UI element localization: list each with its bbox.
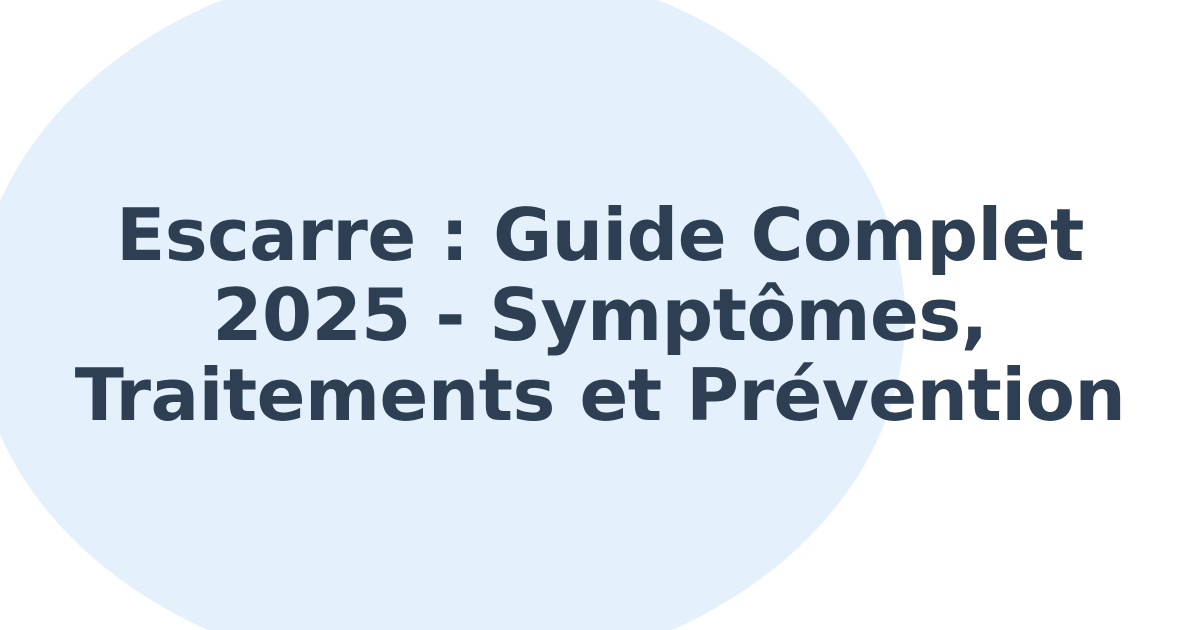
title-container: Escarre : Guide Complet 2025 - Symptômes… <box>0 0 1200 630</box>
og-card: Escarre : Guide Complet 2025 - Symptômes… <box>0 0 1200 630</box>
page-title: Escarre : Guide Complet 2025 - Symptômes… <box>45 195 1155 435</box>
